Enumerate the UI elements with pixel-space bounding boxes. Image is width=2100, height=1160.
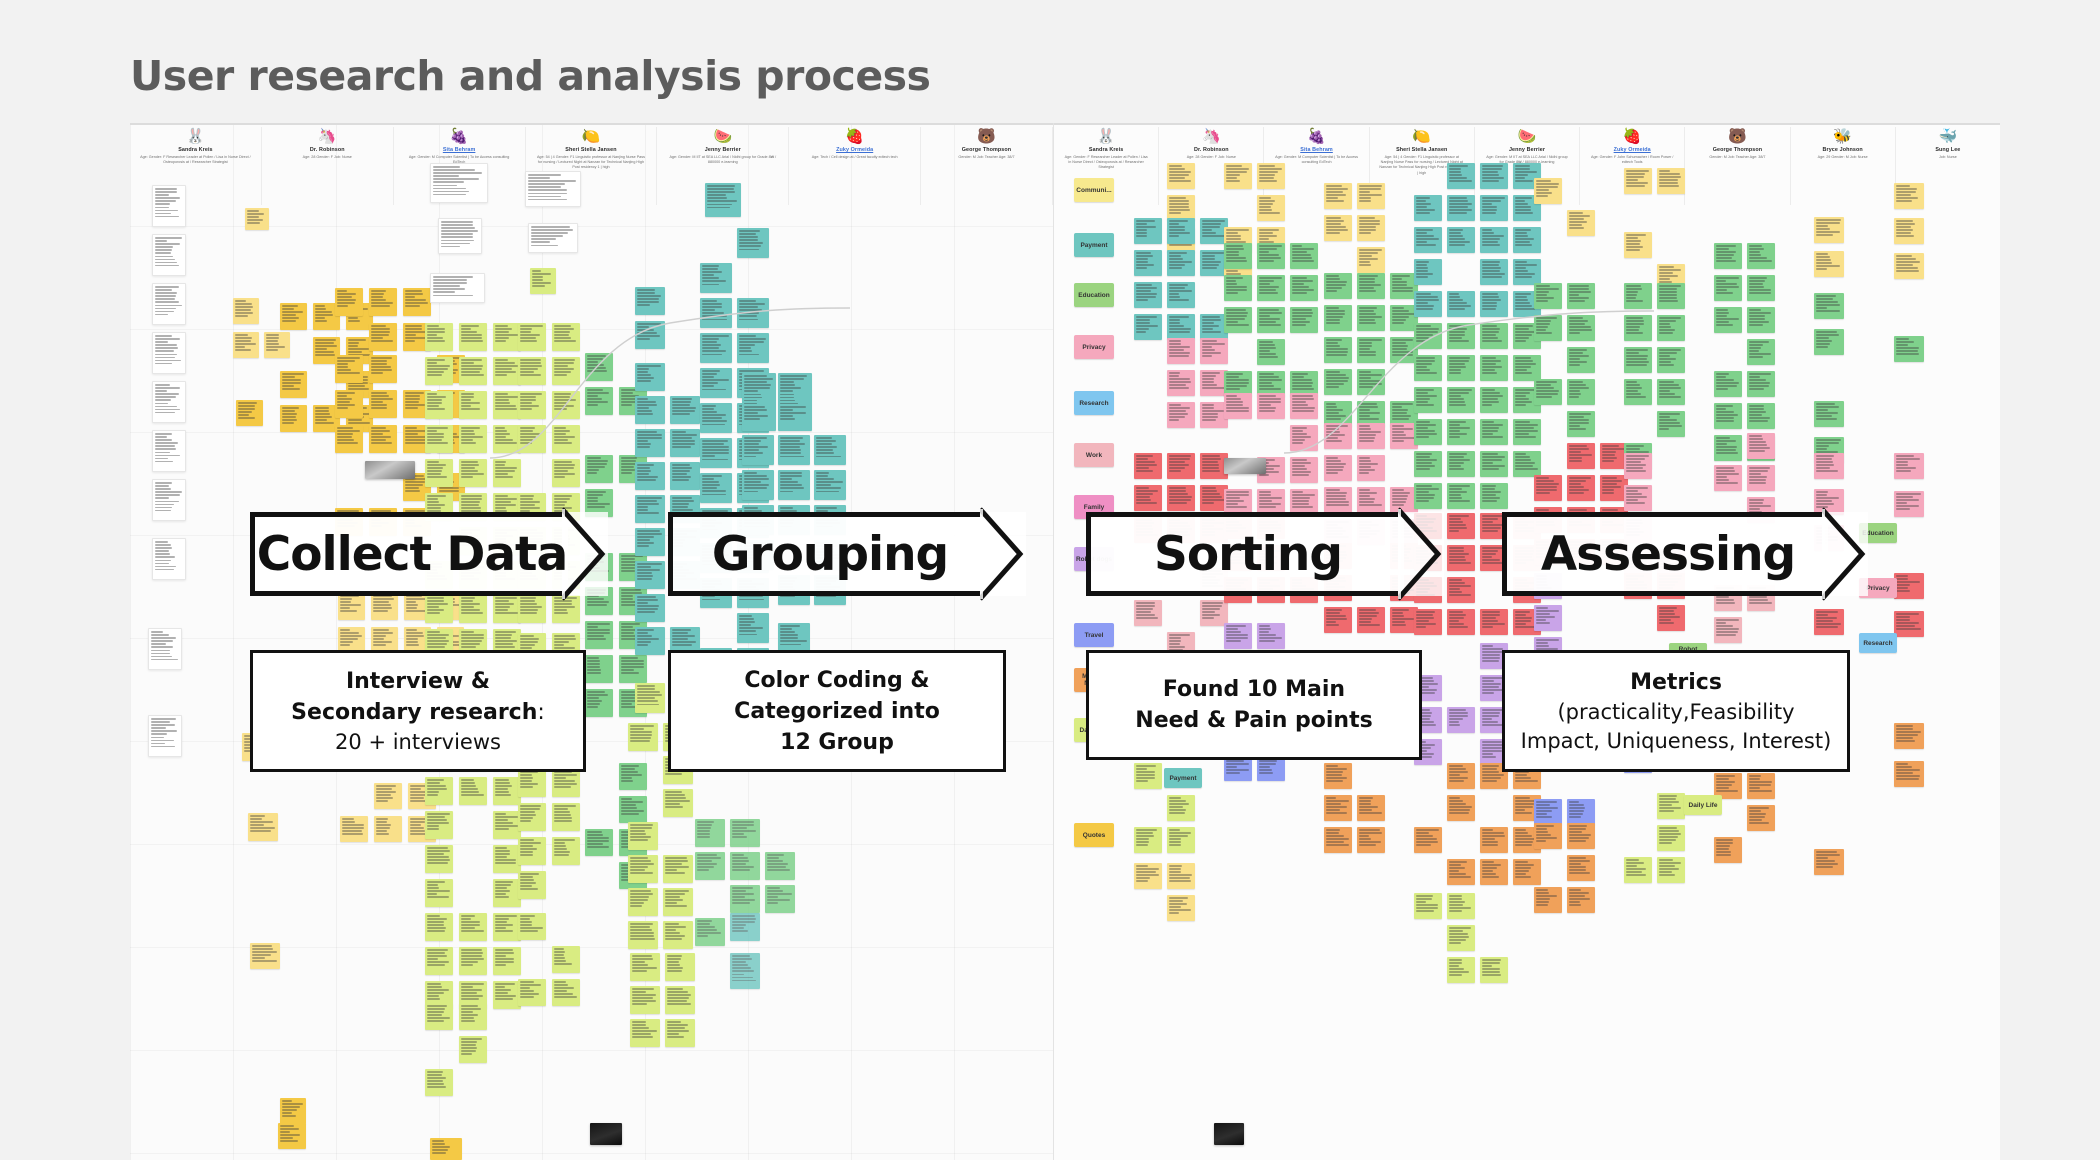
sticky-note[interactable]: [1894, 218, 1924, 244]
sticky-note[interactable]: [1167, 402, 1195, 428]
sticky-note[interactable]: [1324, 369, 1352, 395]
sticky-note[interactable]: [1534, 605, 1562, 631]
stage-banner-assessing[interactable]: Assessing: [1502, 512, 1868, 596]
category-label-chip[interactable]: Travel: [1074, 623, 1114, 647]
sticky-note[interactable]: [1480, 827, 1508, 853]
sticky-note[interactable]: [425, 595, 453, 623]
sticky-note[interactable]: [248, 813, 278, 841]
sticky-note[interactable]: [814, 435, 846, 465]
sticky-note[interactable]: [493, 811, 521, 839]
sticky-note[interactable]: [1134, 600, 1162, 626]
document-card[interactable]: [430, 273, 485, 303]
sticky-note[interactable]: [1534, 283, 1562, 309]
sticky-note[interactable]: [1447, 893, 1475, 919]
sticky-note[interactable]: [585, 689, 613, 717]
sticky-note[interactable]: [1224, 393, 1252, 419]
sticky-note[interactable]: [1224, 623, 1252, 649]
sticky-note[interactable]: [1567, 799, 1595, 825]
sticky-note[interactable]: [425, 777, 453, 805]
sticky-note[interactable]: [1567, 283, 1595, 309]
sticky-note[interactable]: [1747, 805, 1775, 831]
sticky-note[interactable]: [1814, 293, 1844, 319]
sticky-note[interactable]: [1480, 323, 1508, 349]
sticky-note[interactable]: [1567, 443, 1595, 469]
sticky-note[interactable]: [1134, 218, 1162, 244]
sticky-note[interactable]: [737, 613, 769, 643]
sticky-note[interactable]: [1357, 369, 1385, 395]
sticky-note[interactable]: [1513, 419, 1541, 445]
sticky-note[interactable]: [1894, 573, 1924, 599]
sticky-note[interactable]: [665, 1019, 695, 1047]
sticky-note[interactable]: [1567, 315, 1595, 341]
persona-name[interactable]: Sita Behram: [394, 147, 525, 153]
sticky-note[interactable]: [518, 357, 546, 385]
sticky-note[interactable]: [250, 943, 280, 969]
sticky-note[interactable]: [552, 946, 580, 973]
sticky-note[interactable]: [742, 373, 776, 431]
sticky-note[interactable]: [619, 655, 647, 683]
sticky-note[interactable]: [335, 425, 363, 453]
sticky-note[interactable]: [700, 438, 732, 468]
sticky-note[interactable]: [1624, 379, 1652, 405]
sticky-note[interactable]: [630, 986, 660, 1014]
sticky-note[interactable]: [1414, 387, 1442, 413]
sticky-note[interactable]: [1414, 893, 1442, 919]
sticky-note[interactable]: [1324, 183, 1352, 209]
sticky-note[interactable]: [518, 425, 546, 453]
document-card[interactable]: [528, 223, 578, 253]
sticky-note[interactable]: [1167, 282, 1195, 308]
sticky-note[interactable]: [1894, 183, 1924, 209]
sticky-note[interactable]: [1513, 451, 1541, 477]
sticky-note[interactable]: [635, 321, 665, 349]
sticky-note[interactable]: [1714, 435, 1742, 461]
sticky-note[interactable]: [1747, 465, 1775, 491]
sticky-note[interactable]: [1714, 403, 1742, 429]
sticky-note[interactable]: [493, 947, 521, 975]
persona-name[interactable]: Zuky Ormeida: [789, 147, 920, 153]
persona-header-card[interactable]: 🍓Zuky OrmeidaAge: Tech / Cell design at …: [789, 127, 921, 205]
document-card[interactable]: [152, 185, 186, 227]
board-panel-left[interactable]: 🐰Sandra KreisAge: Gender: F Researcher L…: [130, 123, 1053, 1160]
sticky-note[interactable]: [1447, 355, 1475, 381]
sticky-note[interactable]: [695, 852, 725, 880]
sticky-note[interactable]: [1324, 763, 1352, 789]
sticky-note[interactable]: [1447, 707, 1475, 733]
sticky-note[interactable]: [1290, 425, 1318, 451]
sticky-note[interactable]: [1290, 307, 1318, 333]
sticky-note[interactable]: [814, 470, 846, 500]
sticky-note[interactable]: [425, 947, 453, 975]
sticky-note[interactable]: [585, 455, 613, 483]
sticky-note[interactable]: [1480, 291, 1508, 317]
sticky-note[interactable]: [1414, 227, 1442, 253]
stage-banner-grouping[interactable]: Grouping: [668, 512, 1026, 596]
sticky-note[interactable]: [552, 769, 580, 797]
sticky-note[interactable]: [585, 655, 613, 683]
sticky-note[interactable]: [665, 953, 695, 981]
sticky-note[interactable]: [630, 1019, 660, 1047]
sticky-note[interactable]: [1814, 329, 1844, 355]
sticky-note[interactable]: [552, 803, 580, 831]
sticky-note[interactable]: [635, 594, 665, 622]
category-label-chip[interactable]: Communi...: [1074, 178, 1114, 202]
sticky-note[interactable]: [1414, 419, 1442, 445]
sticky-note[interactable]: [1324, 423, 1352, 449]
sticky-note[interactable]: [730, 913, 760, 941]
sticky-note[interactable]: [518, 323, 546, 351]
sticky-note[interactable]: [1357, 795, 1385, 821]
sticky-note[interactable]: [1224, 307, 1252, 333]
sticky-note[interactable]: [1747, 307, 1775, 333]
sticky-note[interactable]: [425, 459, 453, 487]
sticky-note[interactable]: [1513, 259, 1541, 285]
sticky-note[interactable]: [493, 425, 521, 453]
sticky-note[interactable]: [518, 871, 546, 899]
sticky-note[interactable]: [635, 363, 665, 391]
sticky-note[interactable]: [1894, 491, 1924, 517]
sticky-note[interactable]: [1480, 387, 1508, 413]
persona-header-card[interactable]: 🐻George ThompsonGender: M Job: Teacher A…: [921, 127, 1053, 205]
sticky-note[interactable]: [1894, 336, 1924, 362]
sticky-note[interactable]: [1747, 371, 1775, 397]
category-label-chip[interactable]: Quotes: [1074, 823, 1114, 847]
sticky-note[interactable]: [459, 425, 487, 453]
sticky-note[interactable]: [1357, 423, 1385, 449]
sticky-note[interactable]: [665, 986, 695, 1014]
sticky-note[interactable]: [1324, 305, 1352, 331]
sticky-note[interactable]: [700, 403, 732, 433]
sticky-note[interactable]: [1134, 863, 1162, 889]
sticky-note[interactable]: [552, 459, 580, 487]
sticky-note[interactable]: [1414, 259, 1442, 285]
sticky-note[interactable]: [1167, 485, 1195, 511]
sticky-note[interactable]: [1357, 455, 1385, 481]
sticky-note[interactable]: [1324, 215, 1352, 241]
sticky-note[interactable]: [663, 789, 693, 817]
sticky-note[interactable]: [1480, 419, 1508, 445]
sticky-note[interactable]: [459, 357, 487, 385]
sticky-note[interactable]: [630, 953, 660, 981]
category-label-chip[interactable]: Education: [1074, 283, 1114, 307]
sticky-note[interactable]: [1657, 857, 1685, 883]
sticky-note[interactable]: [1747, 433, 1775, 459]
persona-header-card[interactable]: 🐰Sandra KreisAge: Gender: F Researcher L…: [130, 127, 262, 205]
sticky-note[interactable]: [459, 1036, 487, 1063]
sticky-note[interactable]: [552, 425, 580, 453]
sticky-note[interactable]: [1814, 849, 1844, 875]
sticky-note[interactable]: [1447, 163, 1475, 189]
sticky-note[interactable]: [374, 783, 402, 809]
sticky-note[interactable]: [1324, 607, 1352, 633]
sticky-note[interactable]: [459, 323, 487, 351]
sticky-note[interactable]: [369, 390, 397, 418]
sticky-note[interactable]: [552, 837, 580, 865]
sticky-note[interactable]: [1657, 315, 1685, 341]
sticky-note[interactable]: [369, 425, 397, 453]
sticky-note[interactable]: [518, 803, 546, 831]
sticky-note[interactable]: [1357, 247, 1385, 273]
sticky-note[interactable]: [425, 1003, 453, 1030]
sticky-note[interactable]: [1414, 609, 1442, 635]
sticky-note[interactable]: [1357, 487, 1385, 513]
sticky-note[interactable]: [425, 1069, 453, 1096]
persona-name[interactable]: Sita Behram: [1264, 147, 1368, 153]
sticky-note[interactable]: [1624, 485, 1652, 511]
sticky-note[interactable]: [1480, 259, 1508, 285]
sticky-note[interactable]: [1480, 227, 1508, 253]
document-card[interactable]: [152, 479, 186, 521]
sticky-note[interactable]: [459, 777, 487, 805]
board-panel-right[interactable]: 🐰Sandra KreisAge: Gender: F Researcher L…: [1053, 123, 2000, 1160]
sticky-note[interactable]: [493, 777, 521, 805]
sticky-note[interactable]: [635, 495, 665, 523]
sticky-note[interactable]: [1480, 957, 1508, 983]
sticky-note[interactable]: [552, 391, 580, 419]
sticky-note[interactable]: [552, 979, 580, 1006]
sticky-note[interactable]: [1447, 763, 1475, 789]
sticky-note[interactable]: [233, 298, 259, 324]
attached-photo[interactable]: [1214, 1123, 1244, 1145]
sticky-note[interactable]: [425, 357, 453, 385]
sticky-note[interactable]: [1747, 275, 1775, 301]
sticky-note[interactable]: [518, 837, 546, 865]
sticky-note[interactable]: [700, 473, 732, 503]
sticky-note[interactable]: [1447, 451, 1475, 477]
sticky-note[interactable]: [1134, 485, 1162, 511]
sticky-note[interactable]: [585, 387, 613, 415]
sticky-note[interactable]: [635, 462, 665, 490]
sticky-note[interactable]: [493, 845, 521, 873]
document-card[interactable]: [148, 715, 182, 757]
sticky-note[interactable]: [1224, 275, 1252, 301]
sticky-note[interactable]: [1657, 793, 1685, 819]
document-card[interactable]: [152, 381, 186, 423]
sticky-note[interactable]: [1480, 355, 1508, 381]
sticky-note[interactable]: [1447, 387, 1475, 413]
sticky-note[interactable]: [1357, 305, 1385, 331]
sticky-note[interactable]: [635, 287, 665, 315]
sticky-note[interactable]: [1534, 315, 1562, 341]
category-label-chip[interactable]: Research: [1074, 391, 1114, 415]
sticky-note[interactable]: [335, 355, 363, 383]
sticky-note[interactable]: [730, 852, 760, 880]
sticky-note[interactable]: [663, 921, 693, 949]
sticky-note[interactable]: [1167, 863, 1195, 889]
sticky-note[interactable]: [730, 885, 760, 913]
sticky-note[interactable]: [425, 879, 453, 907]
sticky-note[interactable]: [493, 879, 521, 907]
sticky-note[interactable]: [1624, 283, 1652, 309]
sticky-note[interactable]: [1624, 347, 1652, 373]
sticky-note[interactable]: [493, 323, 521, 351]
sticky-note[interactable]: [1657, 347, 1685, 373]
sticky-note[interactable]: [1447, 925, 1475, 951]
sticky-note[interactable]: [1480, 163, 1508, 189]
sticky-note[interactable]: [628, 822, 658, 850]
sticky-note[interactable]: [518, 979, 546, 1006]
sticky-note[interactable]: [663, 888, 693, 916]
sticky-note[interactable]: [1747, 339, 1775, 365]
sticky-note[interactable]: [1513, 859, 1541, 885]
document-card[interactable]: [152, 234, 186, 276]
sticky-note[interactable]: [1747, 773, 1775, 799]
sticky-note[interactable]: [1747, 243, 1775, 269]
sticky-note[interactable]: [1134, 314, 1162, 340]
sticky-note[interactable]: [1534, 799, 1562, 825]
sticky-note[interactable]: [663, 855, 693, 883]
sticky-note[interactable]: [493, 913, 521, 941]
whiteboard-canvas[interactable]: 🐰Sandra KreisAge: Gender: F Researcher L…: [130, 123, 2000, 1160]
sticky-note[interactable]: [670, 462, 700, 490]
sticky-note[interactable]: [425, 425, 453, 453]
sticky-note[interactable]: [1200, 338, 1228, 364]
sticky-note[interactable]: [493, 981, 521, 1009]
sticky-note[interactable]: [1414, 291, 1442, 317]
sticky-note[interactable]: [1480, 195, 1508, 221]
sticky-note[interactable]: [518, 595, 546, 623]
sticky-note[interactable]: [1567, 823, 1595, 849]
sticky-note[interactable]: [778, 623, 810, 653]
sticky-note[interactable]: [233, 332, 259, 358]
sticky-note[interactable]: [1480, 451, 1508, 477]
sticky-note[interactable]: [1167, 338, 1195, 364]
sticky-note[interactable]: [1657, 605, 1685, 631]
sticky-note[interactable]: [459, 947, 487, 975]
sticky-note[interactable]: [1567, 411, 1595, 437]
sticky-note[interactable]: [1894, 253, 1924, 279]
sticky-note[interactable]: [552, 323, 580, 351]
sticky-note[interactable]: [1567, 210, 1595, 236]
sticky-note[interactable]: [670, 429, 700, 457]
sticky-note[interactable]: [425, 913, 453, 941]
sticky-note[interactable]: [1747, 403, 1775, 429]
sticky-note[interactable]: [1714, 243, 1742, 269]
sticky-note[interactable]: [1324, 455, 1352, 481]
sticky-note[interactable]: [1257, 393, 1285, 419]
sticky-note[interactable]: [335, 288, 363, 316]
sticky-note[interactable]: [1224, 163, 1252, 189]
persona-name[interactable]: Zuky Ormeida: [1580, 147, 1684, 153]
sticky-note[interactable]: [778, 435, 810, 465]
document-card[interactable]: [152, 538, 186, 580]
sticky-note[interactable]: [1224, 243, 1252, 269]
sticky-note[interactable]: [730, 953, 760, 989]
sticky-note[interactable]: [518, 769, 546, 797]
sticky-note[interactable]: [1324, 487, 1352, 513]
sticky-note[interactable]: [338, 593, 365, 620]
sticky-note[interactable]: [635, 627, 665, 655]
sticky-note[interactable]: [730, 819, 760, 847]
sticky-note[interactable]: [1290, 457, 1318, 483]
sticky-note[interactable]: [459, 913, 487, 941]
sticky-note[interactable]: [425, 845, 453, 873]
document-card[interactable]: [438, 218, 482, 254]
sticky-note[interactable]: [371, 593, 398, 620]
sticky-note[interactable]: [1167, 163, 1195, 189]
sticky-note[interactable]: [1357, 183, 1385, 209]
sticky-note[interactable]: [635, 528, 665, 556]
sticky-note[interactable]: [1480, 859, 1508, 885]
sticky-note[interactable]: [1480, 483, 1508, 509]
sticky-note[interactable]: [518, 391, 546, 419]
category-label-chip[interactable]: Payment: [1164, 768, 1202, 788]
sticky-note[interactable]: [1624, 315, 1652, 341]
sticky-note[interactable]: [1657, 379, 1685, 405]
sticky-note[interactable]: [1414, 195, 1442, 221]
sticky-note[interactable]: [742, 470, 774, 500]
sticky-note[interactable]: [1357, 607, 1385, 633]
sticky-note[interactable]: [1814, 217, 1844, 243]
sticky-note[interactable]: [1257, 195, 1285, 221]
sticky-note[interactable]: [628, 855, 658, 883]
sticky-note[interactable]: [1414, 323, 1442, 349]
sticky-note[interactable]: [1894, 761, 1924, 787]
sticky-note[interactable]: [1447, 577, 1475, 603]
sticky-note[interactable]: [695, 918, 725, 946]
sticky-note[interactable]: [1447, 545, 1475, 571]
sticky-note[interactable]: [737, 228, 769, 258]
sticky-note[interactable]: [459, 595, 487, 623]
sticky-note[interactable]: [1414, 483, 1442, 509]
persona-header-card[interactable]: 🐝Bryce JohnsonAge: 29 Gender: M Job: Nur…: [1791, 127, 1896, 205]
sticky-note[interactable]: [1714, 371, 1742, 397]
sticky-note[interactable]: [705, 183, 741, 217]
sticky-note[interactable]: [765, 852, 795, 880]
sticky-note[interactable]: [700, 333, 732, 363]
sticky-note[interactable]: [518, 913, 546, 940]
sticky-note[interactable]: [369, 323, 397, 351]
sticky-note[interactable]: [670, 396, 700, 424]
sticky-note[interactable]: [1894, 453, 1924, 479]
sticky-note[interactable]: [1357, 337, 1385, 363]
sticky-note[interactable]: [1167, 453, 1195, 479]
sticky-note[interactable]: [1534, 823, 1562, 849]
sticky-note[interactable]: [628, 921, 658, 949]
sticky-note[interactable]: [1534, 887, 1562, 913]
sticky-note[interactable]: [1657, 411, 1685, 437]
sticky-note[interactable]: [1624, 168, 1652, 194]
sticky-note[interactable]: [1257, 163, 1285, 189]
sticky-note[interactable]: [1134, 453, 1162, 479]
sticky-note[interactable]: [1480, 609, 1508, 635]
sticky-note[interactable]: [1567, 379, 1595, 405]
sticky-note[interactable]: [1447, 227, 1475, 253]
sticky-note[interactable]: [459, 459, 487, 487]
persona-header-card[interactable]: 🦄Dr. RobinsonAge: 28 Gender: F Job: Nurs…: [262, 127, 394, 205]
sticky-note[interactable]: [403, 288, 431, 316]
sticky-note[interactable]: [530, 268, 556, 294]
sticky-note[interactable]: [245, 208, 269, 230]
sticky-note[interactable]: [1567, 475, 1595, 501]
sticky-note[interactable]: [742, 435, 774, 465]
sticky-note[interactable]: [635, 561, 665, 589]
sticky-note[interactable]: [1134, 282, 1162, 308]
sticky-note[interactable]: [1567, 347, 1595, 373]
sticky-note[interactable]: [1657, 825, 1685, 851]
sticky-note[interactable]: [1624, 232, 1652, 258]
sticky-note[interactable]: [585, 829, 613, 856]
sticky-note[interactable]: [1324, 827, 1352, 853]
sticky-note[interactable]: [1357, 215, 1385, 241]
sticky-note[interactable]: [1167, 827, 1195, 853]
sticky-note[interactable]: [459, 1003, 487, 1030]
sticky-note[interactable]: [1447, 291, 1475, 317]
sticky-note[interactable]: [1134, 763, 1162, 789]
sticky-note[interactable]: [493, 391, 521, 419]
sticky-note[interactable]: [628, 723, 658, 751]
sticky-note[interactable]: [1134, 250, 1162, 276]
